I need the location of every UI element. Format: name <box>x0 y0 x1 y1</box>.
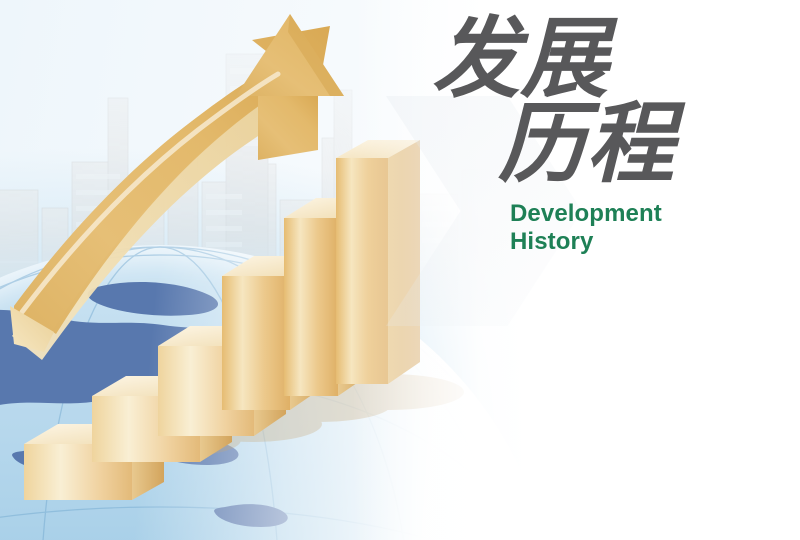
english-subtitle: Development History <box>510 200 760 257</box>
english-subtitle-line1: Development <box>510 200 760 228</box>
chinese-title-line1: 发展 <box>432 18 760 99</box>
development-history-banner: 发展 历程 Development History <box>0 0 800 540</box>
chinese-title-line2: 历程 <box>498 103 760 184</box>
chinese-calligraphy-title: 发展 历程 <box>430 18 760 184</box>
heading-block: 发展 历程 Development History <box>430 18 760 257</box>
english-subtitle-line2: History <box>510 228 760 256</box>
